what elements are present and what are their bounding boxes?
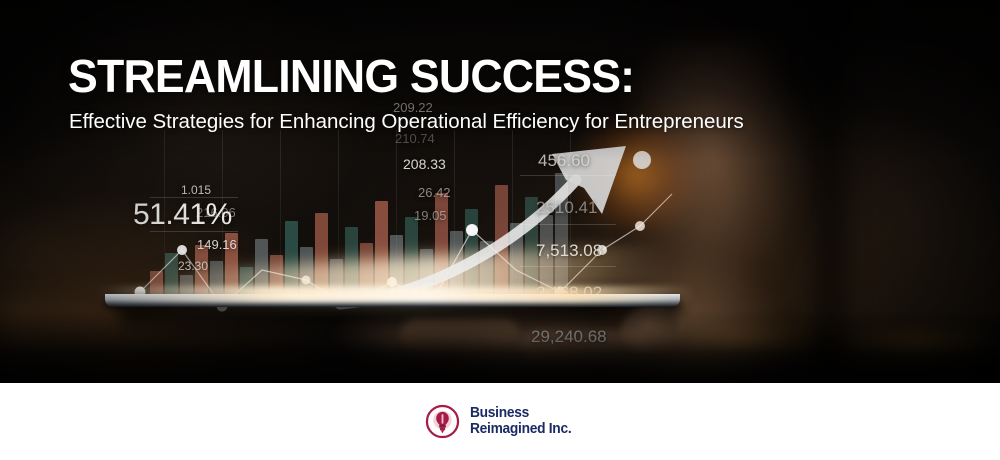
divider (520, 266, 616, 267)
metric-percentage: 51.41% (133, 198, 232, 232)
page-subtitle: Effective Strategies for Enhancing Opera… (69, 110, 744, 135)
metric-value: 456.60 (538, 151, 590, 171)
brand-wordmark: Business Reimagined Inc. (470, 406, 571, 437)
brand-line-2: Reimagined Inc. (470, 422, 571, 437)
brand-line-1: Business (470, 406, 571, 421)
brand-logo[interactable]: Business Reimagined Inc. (424, 403, 577, 440)
divider (520, 175, 616, 176)
metric-value: 2510.41 (536, 198, 597, 218)
page-title: STREAMLINING SUCCESS: (68, 52, 634, 100)
metric-value: 26.42 (418, 185, 451, 200)
metric-value: 149.16 (197, 237, 237, 252)
marketing-banner: 209.22 210.74 208.33 26.42 19.05 1.015 2… (0, 0, 1000, 460)
hero-section: 209.22 210.74 208.33 26.42 19.05 1.015 2… (0, 0, 1000, 383)
lightbulb-in-circle-icon (424, 403, 461, 440)
divider (520, 224, 616, 225)
metric-value: 208.33 (403, 156, 446, 172)
metric-value: 19.05 (414, 208, 447, 223)
metric-value: 23.30 (178, 259, 208, 273)
metric-value: 1.015 (181, 183, 211, 197)
tablet-device (105, 286, 680, 312)
footer-section: Business Reimagined Inc. (0, 383, 1000, 460)
metric-value: 7,513.08 (536, 241, 602, 261)
